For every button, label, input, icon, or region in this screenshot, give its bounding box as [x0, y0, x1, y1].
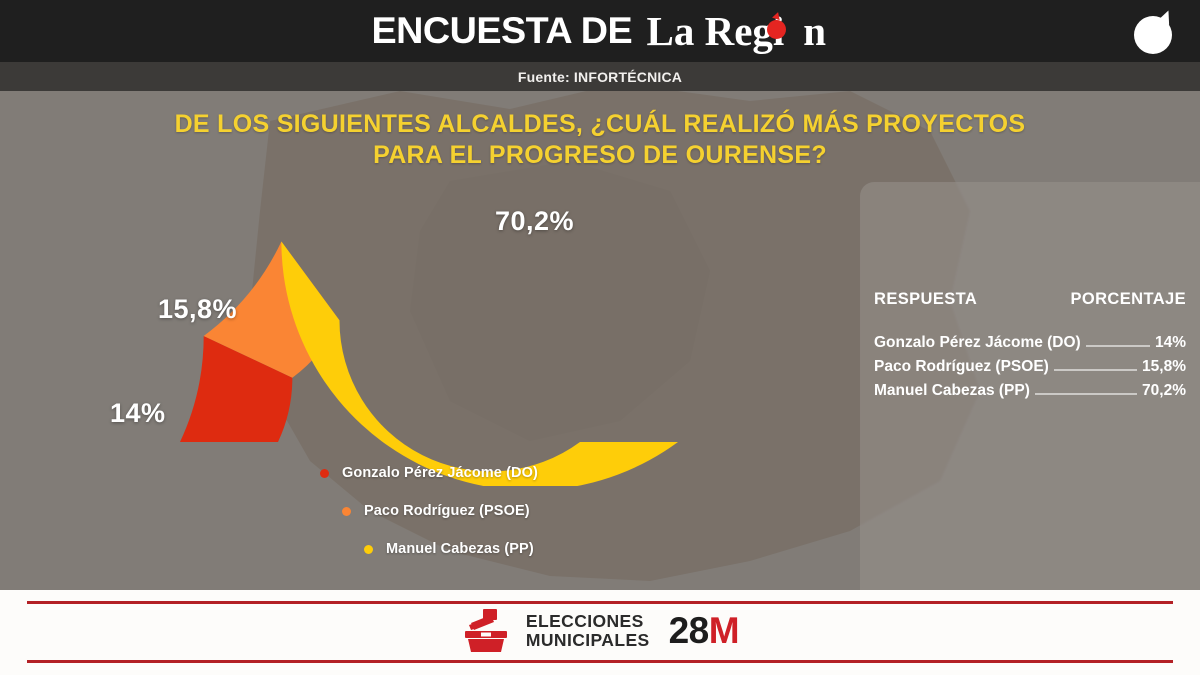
results-panel: RESPUESTA PORCENTAJE Gonzalo Pérez Jácom… — [860, 182, 1200, 590]
table-row: Paco Rodríguez (PSOE) 15,8% — [874, 358, 1186, 376]
legend-label: Gonzalo Pérez Jácome (DO) — [342, 465, 538, 481]
leader-line — [1035, 393, 1137, 395]
infographic-root: ENCUESTA DE La Regin Fuente: INFORTÉCNIC… — [0, 0, 1200, 675]
table-row: Gonzalo Pérez Jácome (DO) 14% — [874, 334, 1186, 352]
legend-item-paco-rodriguez: Paco Rodríguez (PSOE) — [342, 503, 538, 519]
row-answer: Manuel Cabezas (PP) — [874, 382, 1030, 400]
footer-election-date: 28M — [669, 610, 739, 652]
masthead-brand: La Regin — [646, 7, 826, 55]
row-answer: Gonzalo Pérez Jácome (DO) — [874, 334, 1081, 352]
date-letter: M — [709, 610, 739, 651]
row-percent: 15,8% — [1142, 358, 1186, 376]
results-table-body: Gonzalo Pérez Jácome (DO) 14% Paco Rodrí… — [874, 334, 1186, 406]
headline-line-1: DE LOS SIGUIENTES ALCALDES, ¿CUÁL REALIZ… — [0, 109, 1200, 140]
legend-label: Paco Rodríguez (PSOE) — [364, 503, 530, 519]
table-row: Manuel Cabezas (PP) 70,2% — [874, 382, 1186, 400]
footer-content: ELECCIONES MUNICIPALES 28M — [0, 601, 1200, 660]
row-percent: 14% — [1155, 334, 1186, 352]
legend-item-gonzalo-perez: Gonzalo Pérez Jácome (DO) — [320, 465, 538, 481]
legend-color-swatch-icon — [364, 545, 373, 554]
leader-line — [1054, 369, 1137, 371]
source-bar: Fuente: INFORTÉCNICA — [0, 62, 1200, 91]
footer-line-2: MUNICIPALES — [526, 631, 650, 649]
donut-svg — [170, 176, 690, 486]
legend-color-swatch-icon — [342, 507, 351, 516]
page-title: DE LOS SIGUIENTES ALCALDES, ¿CUÁL REALIZ… — [0, 109, 1200, 170]
headline-line-2: PARA EL PROGRESO DE OURENSE? — [0, 140, 1200, 171]
value-label-gonzalo-perez: 14% — [110, 398, 166, 429]
main-content: DE LOS SIGUIENTES ALCALDES, ¿CUÁL REALIZ… — [0, 91, 1200, 590]
semicircular-donut-chart — [170, 176, 690, 486]
donut-segment — [281, 241, 678, 486]
column-header-percent: PORCENTAJE — [1070, 290, 1186, 309]
footer-rule-bottom — [27, 660, 1173, 663]
brand-text-after: n — [803, 8, 826, 54]
value-label-paco-rodriguez: 15,8% — [158, 294, 237, 325]
masthead-title: ENCUESTA DE — [371, 10, 632, 52]
column-header-answer: RESPUESTA — [874, 290, 977, 309]
footer-election-label: ELECCIONES MUNICIPALES — [526, 612, 650, 648]
leader-line — [1086, 345, 1150, 347]
legend-label: Manuel Cabezas (PP) — [386, 541, 534, 557]
la-region-circle-mark-icon — [1134, 10, 1178, 54]
legend-color-swatch-icon — [320, 469, 329, 478]
row-answer: Paco Rodríguez (PSOE) — [874, 358, 1049, 376]
value-label-manuel-cabezas: 70,2% — [495, 206, 574, 237]
date-number: 28 — [669, 610, 709, 651]
masthead: ENCUESTA DE La Regin — [0, 0, 1200, 62]
footer-line-1: ELECCIONES — [526, 612, 650, 630]
source-text: Fuente: INFORTÉCNICA — [518, 69, 682, 85]
ballot-box-icon — [461, 607, 513, 655]
chart-legend: Gonzalo Pérez Jácome (DO) Paco Rodríguez… — [320, 465, 538, 579]
legend-item-manuel-cabezas: Manuel Cabezas (PP) — [364, 541, 538, 557]
brand-text-before: La Regi — [646, 8, 784, 54]
logo-circle — [1134, 16, 1172, 54]
footer: ELECCIONES MUNICIPALES 28M — [0, 590, 1200, 675]
results-table-header: RESPUESTA PORCENTAJE — [874, 290, 1186, 309]
row-percent: 70,2% — [1142, 382, 1186, 400]
